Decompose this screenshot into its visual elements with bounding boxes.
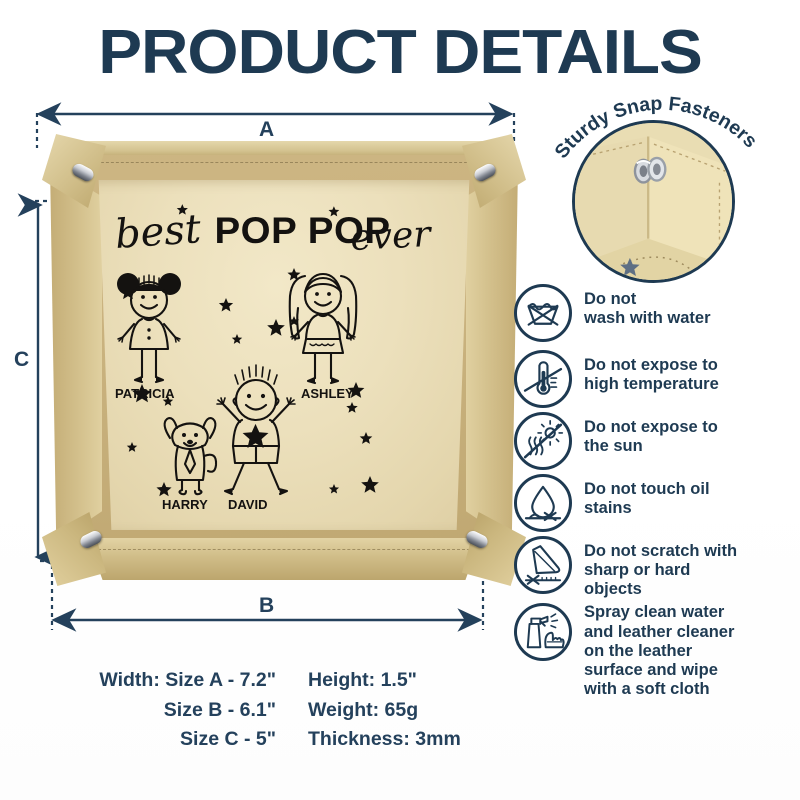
tray-stitching-bottom [98, 549, 470, 550]
no-high-temperature-icon [514, 350, 572, 408]
spec-line: Width: Size A - 7.2" [30, 666, 276, 696]
figure-harry [165, 418, 216, 494]
specs-column-dimensions: Width: Size A - 7.2" Size B - 6.1" Size … [30, 666, 278, 755]
care-text: Do not expose tothe sun [584, 412, 718, 456]
figure-patricia [117, 273, 181, 382]
care-instructions-list: Do notwash with water Do not expose tohi… [514, 284, 800, 703]
dimension-label-b: B [259, 594, 274, 618]
tray-stitching-top [86, 162, 482, 163]
svg-text:best: best [113, 206, 203, 258]
page-title: PRODUCT DETAILS [0, 22, 800, 84]
spec-line: Height: 1.5" [308, 666, 504, 696]
figure-ashley [290, 274, 357, 383]
spec-line: Size B - 6.1" [30, 696, 276, 726]
tray-top-rim [55, 141, 513, 155]
care-row: Do not expose tothe sun [514, 412, 800, 470]
figure-label-ashley: ASHLEY [301, 386, 354, 401]
specs-column-attributes: Height: 1.5" Weight: 65g Thickness: 3mm [308, 666, 504, 755]
tray-inner-wall-right [466, 158, 518, 542]
tray-engraved-artwork: best POP POP ever [98, 188, 470, 518]
svg-text:ever: ever [349, 214, 433, 259]
spec-line: Weight: 65g [308, 696, 504, 726]
figure-label-harry: HARRY [162, 497, 208, 512]
no-sharp-objects-icon [514, 536, 572, 594]
snap-fastener-closeup-illustration [575, 123, 732, 280]
dimension-label-c: C [14, 348, 29, 372]
care-text: Spray clean waterand leather cleaneron t… [584, 603, 734, 699]
figure-label-patricia: PATRICIA [115, 386, 175, 401]
no-sun-exposure-icon [514, 412, 572, 470]
snap-fastener-closeup-photo [572, 120, 735, 283]
tray-inner-wall-left [50, 158, 102, 542]
tray-front-wall [68, 538, 500, 580]
specifications-block: Width: Size A - 7.2" Size B - 6.1" Size … [30, 666, 510, 755]
care-row: Do not scratch withsharp or hardobjects [514, 536, 800, 599]
spray-clean-icon [514, 603, 572, 661]
care-row: Do not expose tohigh temperature [514, 350, 800, 408]
spec-line: Size C - 5" [30, 725, 276, 755]
care-row: Spray clean waterand leather cleaneron t… [514, 603, 800, 699]
care-row: Do notwash with water [514, 284, 800, 342]
care-text: Do notwash with water [584, 284, 711, 328]
tray-product-image: best POP POP ever [46, 128, 522, 580]
care-text: Do not touch oilstains [584, 474, 710, 518]
figure-label-david: DAVID [228, 497, 267, 512]
product-details-page: PRODUCT DETAILS A B [0, 0, 800, 800]
spec-line: Thickness: 3mm [308, 725, 504, 755]
figure-david [217, 365, 295, 494]
care-text: Do not expose tohigh temperature [584, 350, 719, 394]
care-text: Do not scratch withsharp or hardobjects [584, 536, 737, 599]
no-oil-stains-icon [514, 474, 572, 532]
care-row: Do not touch oilstains [514, 474, 800, 532]
no-water-wash-icon [514, 284, 572, 342]
